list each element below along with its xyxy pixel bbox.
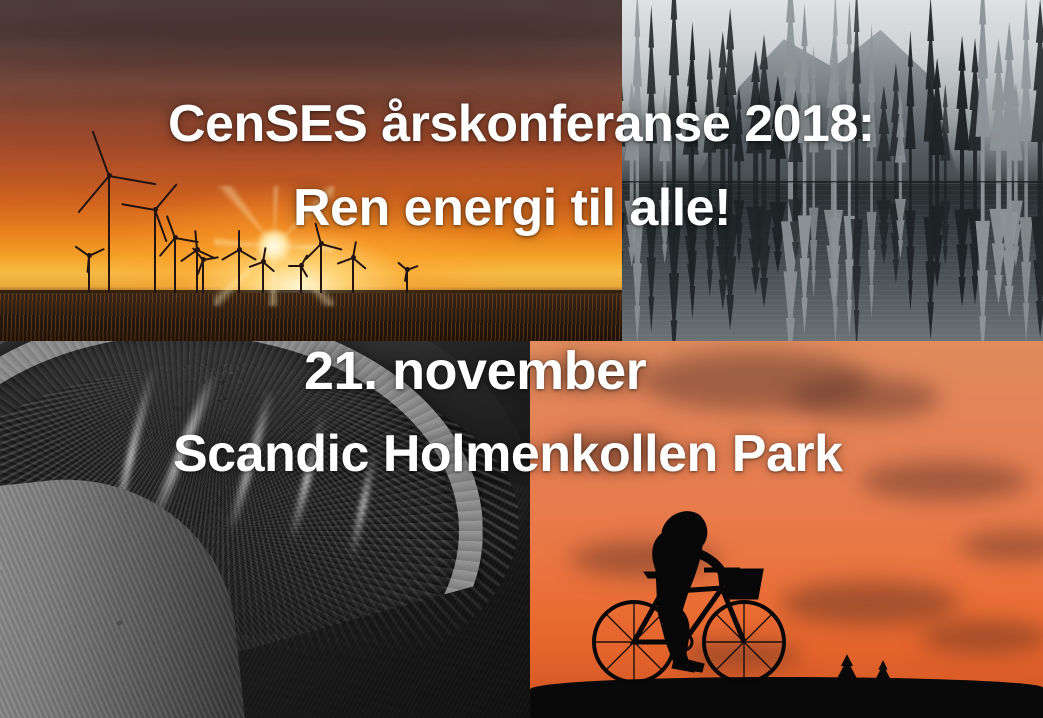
wind-turbine-sunset-photo [0, 0, 622, 341]
sunset-cloud [920, 621, 1043, 653]
sunset-cloud [860, 461, 1030, 501]
cyclist-icon [592, 492, 802, 692]
conference-title-line: CenSES årskonferanse 2018: [168, 98, 875, 150]
wind-turbine-icon [238, 247, 240, 293]
conference-poster: CenSES årskonferanse 2018: Ren energi ti… [0, 0, 1043, 718]
sunset-cloud [780, 581, 960, 625]
wind-turbine-icon [320, 241, 322, 293]
wind-turbine-icon [262, 259, 264, 293]
wind-turbine-icon [406, 267, 408, 293]
wind-turbine-icon [352, 255, 354, 293]
wind-turbine-icon [108, 173, 110, 293]
wind-turbine-icon [88, 253, 90, 293]
wind-turbine-icon [174, 235, 176, 293]
conference-subtitle-line: Ren energi til alle! [293, 182, 731, 234]
event-venue-line: Scandic Holmenkollen Park [173, 428, 843, 480]
wind-turbine-icon [154, 207, 156, 293]
cloud-band [0, 14, 622, 48]
snowy-forest-lake-photo [622, 0, 1043, 341]
wind-turbine-icon [202, 257, 204, 293]
sunset-cloud [790, 377, 940, 419]
event-date-line: 21. november [304, 344, 646, 398]
cloud-band [0, 51, 622, 73]
wind-turbine-icon [300, 263, 302, 293]
